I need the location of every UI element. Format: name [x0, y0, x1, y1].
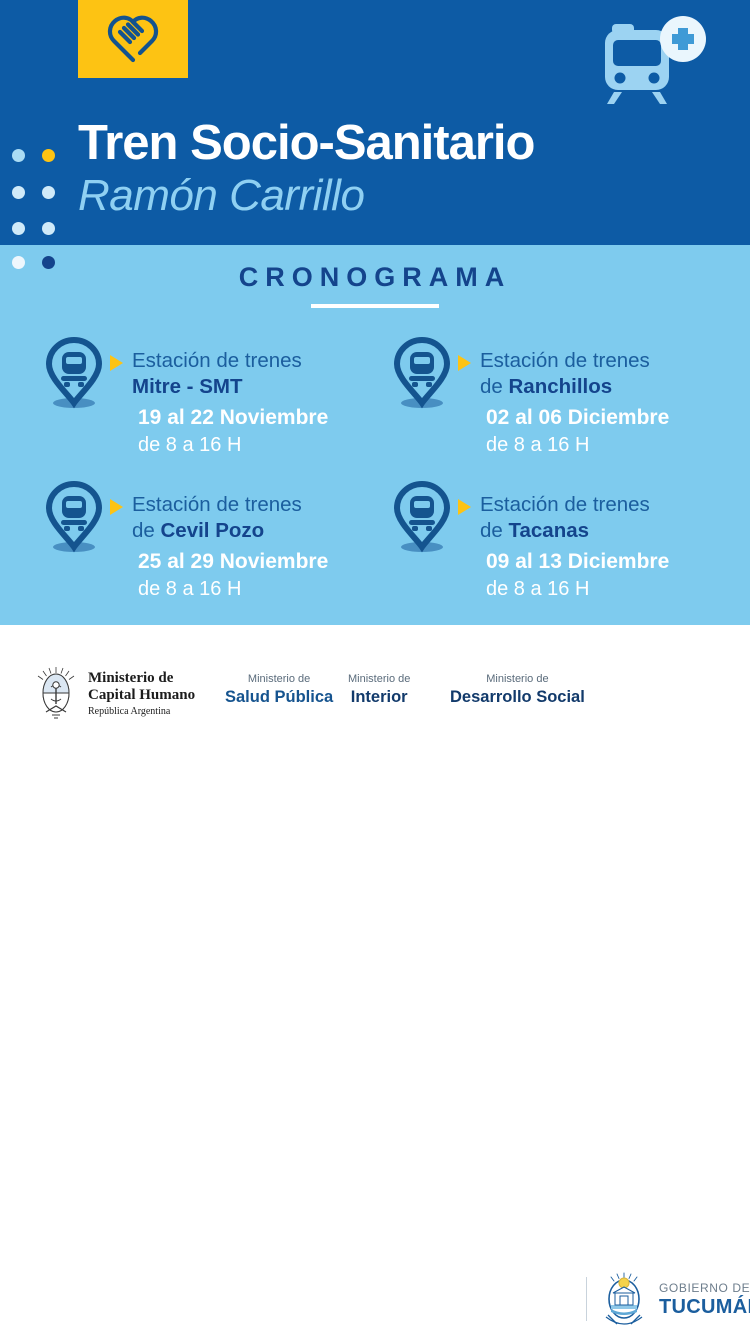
- schedule-dates: 09 al 13 Diciembre: [486, 548, 714, 575]
- station-line: Estación de trenes de Cevil Pozo: [110, 492, 366, 544]
- capital-humano-line1: Ministerio de: [88, 670, 195, 687]
- schedule-dates: 25 al 29 Noviembre: [138, 548, 366, 575]
- station-line: Estación de trenes de Tacanas: [458, 492, 714, 544]
- schedule-entry-text: Estación de trenes de Cevil Pozo 25 al 2…: [110, 480, 366, 602]
- decorative-dot: [42, 149, 55, 162]
- poster-root: Tren Socio-Sanitario Ramón Carrillo CRON…: [0, 0, 750, 750]
- logo-gobierno-tucuman: GOBIERNO DE TUCUMÁN: [596, 1271, 750, 1329]
- schedule-heading-block: CRONOGRAMA: [0, 262, 750, 308]
- station-line: Estación de trenes Mitre - SMT: [110, 348, 366, 400]
- decorative-dot: [12, 149, 25, 162]
- map-pin-train-icon: [392, 480, 452, 554]
- schedule-grid: Estación de trenes Mitre - SMT 19 al 22 …: [44, 336, 714, 602]
- station-name: de Ranchillos: [480, 375, 612, 398]
- map-pin-train-icon: [44, 480, 104, 554]
- heading-underline: [311, 304, 439, 308]
- tucuman-line1: GOBIERNO DE: [659, 1281, 750, 1295]
- schedule-entry: Estación de trenes Mitre - SMT 19 al 22 …: [44, 336, 366, 458]
- capital-humano-line2: Capital Humano: [88, 687, 195, 704]
- logo-desarrollo-social: Ministerio de Desarrollo Social: [450, 673, 585, 707]
- station-name: de Cevil Pozo: [132, 519, 264, 542]
- handshake-heart-icon: [102, 11, 164, 67]
- schedule-dates: 02 al 06 Diciembre: [486, 404, 714, 431]
- ministry-name: Desarrollo Social: [450, 687, 585, 708]
- tucuman-shield-icon: [596, 1271, 652, 1329]
- ministry-prefix: Ministerio de: [225, 673, 333, 687]
- station-name: Mitre - SMT: [132, 375, 242, 398]
- schedule-entry: Estación de trenes de Ranchillos 02 al 0…: [392, 336, 714, 458]
- schedule-dates: 19 al 22 Noviembre: [138, 404, 366, 431]
- schedule-hours: de 8 a 16 H: [138, 576, 366, 602]
- ministry-prefix: Ministerio de: [450, 673, 585, 687]
- triangle-right-icon: [110, 355, 123, 371]
- schedule-entry: Estación de trenes de Cevil Pozo 25 al 2…: [44, 480, 366, 602]
- title-block: Tren Socio-Sanitario Ramón Carrillo: [78, 118, 718, 220]
- triangle-right-icon: [110, 499, 123, 515]
- train-with-plus-icon: [600, 12, 710, 107]
- logo-salud-publica: Ministerio de Salud Pública: [225, 673, 333, 707]
- triangle-right-icon: [458, 499, 471, 515]
- decorative-dot: [12, 186, 25, 199]
- triangle-right-icon: [458, 355, 471, 371]
- page-subtitle: Ramón Carrillo: [78, 171, 718, 220]
- station-label: Estación de trenes: [480, 349, 650, 372]
- schedule-hours: de 8 a 16 H: [138, 432, 366, 458]
- page-title: Tren Socio-Sanitario: [78, 118, 718, 169]
- schedule-hours: de 8 a 16 H: [486, 576, 714, 602]
- footer-divider: [586, 1277, 587, 1321]
- decorative-dot: [42, 222, 55, 235]
- capital-humano-logo-square: [78, 0, 188, 78]
- station-line: Estación de trenes de Ranchillos: [458, 348, 714, 400]
- footer-band: Ministerio de Capital Humano República A…: [0, 625, 750, 750]
- station-name: de Tacanas: [480, 519, 589, 542]
- tucuman-line2: TUCUMÁN: [659, 1296, 750, 1319]
- decorative-dot: [12, 222, 25, 235]
- schedule-heading: CRONOGRAMA: [0, 262, 750, 293]
- logo-capital-humano: Ministerio de Capital Humano República A…: [32, 665, 195, 723]
- capital-humano-line3: República Argentina: [88, 705, 195, 718]
- schedule-entry-text: Estación de trenes de Tacanas 09 al 13 D…: [458, 480, 714, 602]
- decorative-dot-grid: [0, 0, 80, 290]
- station-label: Estación de trenes: [132, 349, 302, 372]
- schedule-entry: Estación de trenes de Tacanas 09 al 13 D…: [392, 480, 714, 602]
- station-label: Estación de trenes: [480, 493, 650, 516]
- map-pin-train-icon: [44, 336, 104, 410]
- station-label: Estación de trenes: [132, 493, 302, 516]
- ministry-name: Interior: [348, 687, 410, 708]
- schedule-hours: de 8 a 16 H: [486, 432, 714, 458]
- ministry-name: Salud Pública: [225, 687, 333, 708]
- schedule-entry-text: Estación de trenes Mitre - SMT 19 al 22 …: [110, 336, 366, 458]
- schedule-entry-text: Estación de trenes de Ranchillos 02 al 0…: [458, 336, 714, 458]
- logo-interior: Ministerio de Interior: [348, 673, 410, 707]
- decorative-dot: [42, 186, 55, 199]
- map-pin-train-icon: [392, 336, 452, 410]
- ministry-prefix: Ministerio de: [348, 673, 410, 687]
- argentina-coat-of-arms-icon: [32, 665, 80, 723]
